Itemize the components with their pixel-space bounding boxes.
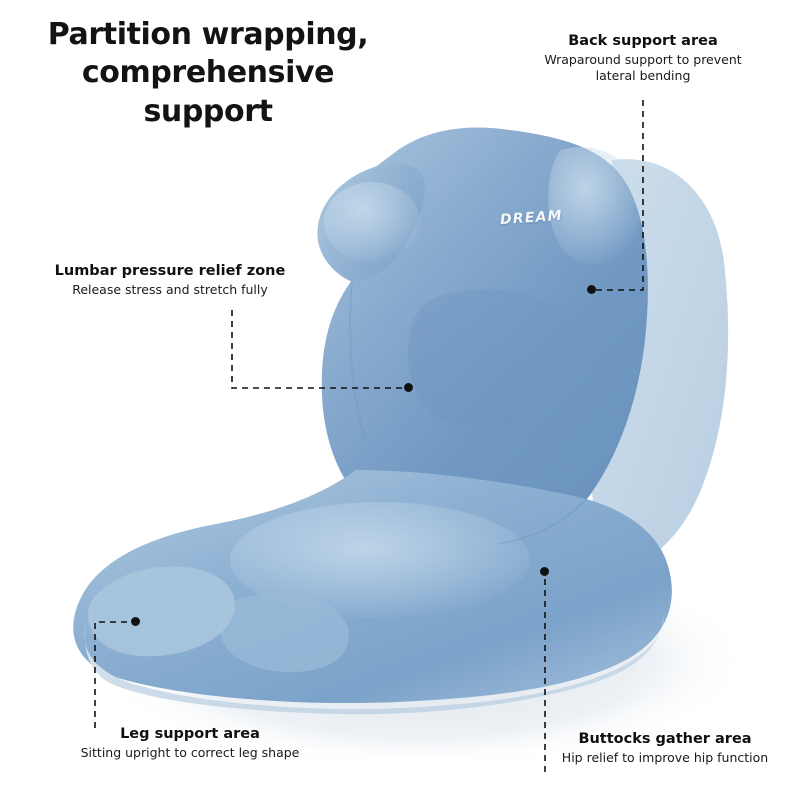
page-title: Partition wrapping, comprehensive suppor… [28, 16, 388, 131]
callout-lumbar: Lumbar pressure relief zone Release stre… [20, 262, 320, 298]
callout-buttocks-subtitle: Hip relief to improve hip function [530, 750, 800, 766]
callout-buttocks: Buttocks gather area Hip relief to impro… [530, 730, 800, 766]
callout-back-support-subtitle: Wraparound support to prevent lateral be… [513, 52, 773, 85]
callout-dot-buttocks [540, 567, 549, 576]
callout-lumbar-subtitle: Release stress and stretch fully [20, 282, 320, 298]
callout-leg-support-title: Leg support area [45, 725, 335, 745]
callout-dot-lumbar [404, 383, 413, 392]
callout-lumbar-title: Lumbar pressure relief zone [20, 262, 320, 282]
callout-dot-back-support [587, 285, 596, 294]
product-infographic: DREAM Partition wrapping, comprehensive … [0, 0, 800, 800]
callout-back-support: Back support area Wraparound support to … [513, 32, 773, 84]
callout-back-support-title: Back support area [513, 32, 773, 52]
callout-buttocks-title: Buttocks gather area [530, 730, 800, 750]
callout-leg-support: Leg support area Sitting upright to corr… [45, 725, 335, 761]
callout-leg-support-subtitle: Sitting upright to correct leg shape [45, 745, 335, 761]
callout-dot-leg-support [131, 617, 140, 626]
